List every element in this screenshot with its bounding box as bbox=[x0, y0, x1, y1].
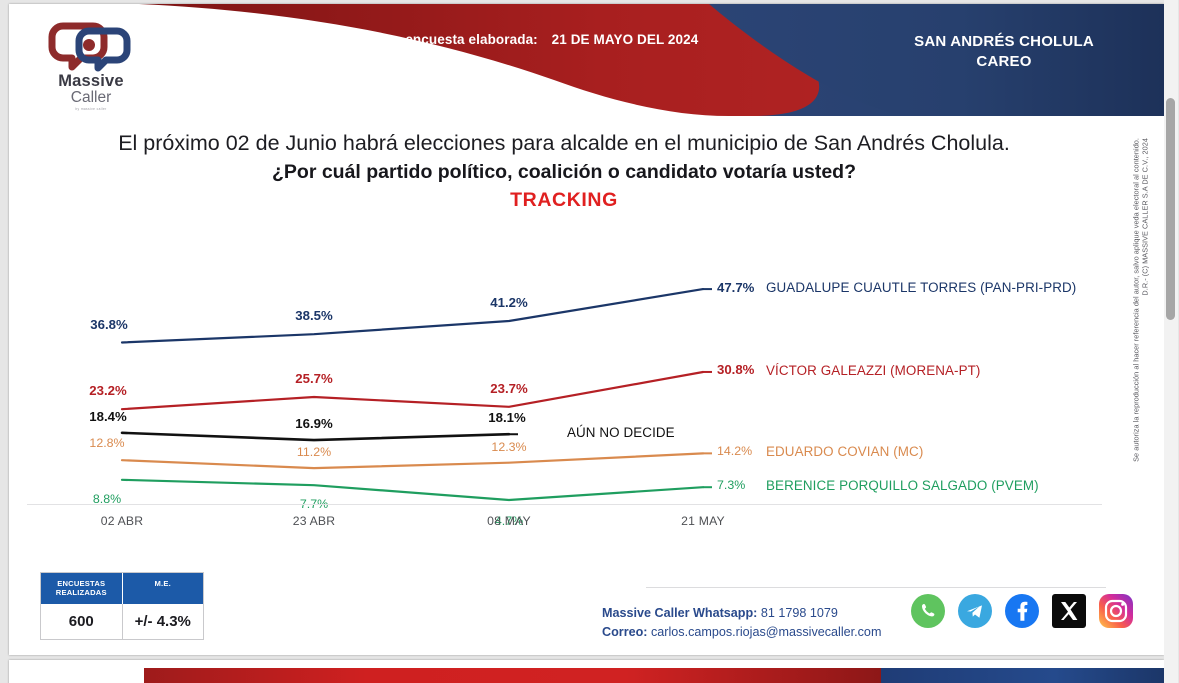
stats-table-header: ENCUESTAS REALIZADAS M.E. bbox=[41, 573, 203, 604]
slide: Última encuesta elaborada: 21 DE MAYO DE… bbox=[9, 4, 1164, 655]
question-line-1: El próximo 02 de Junio habrá elecciones … bbox=[9, 130, 1119, 157]
x-axis-tick-label: 23 ABR bbox=[293, 514, 336, 528]
banner-title-line1: SAN ANDRÉS CHOLULA bbox=[854, 32, 1154, 52]
logo-bubbles-icon bbox=[43, 20, 139, 72]
data-point-label: 16.9% bbox=[295, 416, 332, 431]
question-line-2: ¿Por cuál partido político, coalición o … bbox=[9, 161, 1119, 184]
survey-date: Última encuesta elaborada: 21 DE MAYO DE… bbox=[309, 32, 749, 47]
whatsapp-icon[interactable] bbox=[909, 592, 947, 630]
logo-text-caller: Caller bbox=[43, 90, 139, 106]
social-links bbox=[909, 592, 1135, 630]
tracking-line-chart: 36.8%38.5%41.2%47.7%23.2%25.7%23.7%30.8%… bbox=[9, 232, 1119, 532]
data-point-label: 11.2% bbox=[297, 445, 331, 459]
data-point-label: 7.3% bbox=[717, 478, 745, 492]
series-line bbox=[122, 289, 703, 342]
brand-logo: Massive Caller by massive caller bbox=[43, 20, 139, 104]
next-slide-blue-band bbox=[881, 668, 1164, 683]
data-point-label: 30.8% bbox=[717, 362, 754, 377]
x-axis-tick-label: 21 MAY bbox=[681, 514, 725, 528]
data-point-label: 12.3% bbox=[491, 440, 526, 454]
copyright-line-1: D.R.- (C) MASSIVE CALLER S.A DE C.V., 20… bbox=[1141, 138, 1150, 296]
contact-whatsapp: Massive Caller Whatsapp: 81 1798 1079 bbox=[602, 604, 881, 623]
data-point-label: 18.1% bbox=[488, 410, 525, 425]
x-twitter-icon[interactable] bbox=[1050, 592, 1088, 630]
copyright-line-2: Se autoriza la reproducción al hacer ref… bbox=[1132, 138, 1141, 462]
copyright-vertical: D.R.- (C) MASSIVE CALLER S.A DE C.V., 20… bbox=[1128, 138, 1156, 558]
contact-email-label: Correo: bbox=[602, 625, 647, 639]
series-line bbox=[122, 453, 703, 468]
contact-whatsapp-label: Massive Caller Whatsapp: bbox=[602, 606, 757, 620]
x-axis-tick-label: 02 ABR bbox=[101, 514, 144, 528]
series-line bbox=[122, 433, 509, 440]
data-point-label: 36.8% bbox=[90, 317, 127, 332]
contact-info: Massive Caller Whatsapp: 81 1798 1079 Co… bbox=[602, 604, 881, 642]
legend-item: EDUARDO COVIAN (MC) bbox=[766, 444, 923, 459]
data-point-label: 47.7% bbox=[717, 280, 754, 295]
data-point-label: 38.5% bbox=[295, 308, 332, 323]
tracking-label: TRACKING bbox=[9, 189, 1119, 212]
data-point-label: 41.2% bbox=[490, 295, 527, 310]
survey-date-label: Última encuesta elaborada: bbox=[360, 32, 538, 47]
facebook-icon[interactable] bbox=[1003, 592, 1041, 630]
instagram-icon[interactable] bbox=[1097, 592, 1135, 630]
x-axis-tick-label: 08 MAY bbox=[487, 514, 531, 528]
series-line bbox=[122, 372, 703, 409]
x-axis-line bbox=[27, 504, 1102, 505]
contact-email: Correo: carlos.campos.riojas@massivecall… bbox=[602, 623, 881, 642]
data-point-label: 23.7% bbox=[490, 381, 527, 396]
next-slide-preview[interactable] bbox=[9, 660, 1164, 683]
banner-title-line2: CAREO bbox=[854, 52, 1154, 72]
series-line bbox=[122, 480, 703, 500]
logo-tagline: by massive caller bbox=[43, 107, 139, 111]
screen: Última encuesta elaborada: 21 DE MAYO DE… bbox=[0, 0, 1179, 683]
stats-header-surveys: ENCUESTAS REALIZADAS bbox=[41, 573, 123, 604]
scrollbar-thumb[interactable] bbox=[1166, 98, 1175, 320]
stats-value-margin: +/- 4.3% bbox=[123, 604, 204, 639]
stats-table-row: 600 +/- 4.3% bbox=[41, 604, 203, 639]
banner-title: SAN ANDRÉS CHOLULA CAREO bbox=[854, 32, 1154, 73]
contact-email-value: carlos.campos.riojas@massivecaller.com bbox=[651, 625, 881, 639]
data-point-label: 18.4% bbox=[89, 409, 126, 424]
telegram-icon[interactable] bbox=[956, 592, 994, 630]
massive-caller-logo-icon bbox=[43, 20, 139, 72]
data-point-label: 14.2% bbox=[717, 444, 752, 458]
legend-item: AÚN NO DECIDE bbox=[567, 425, 675, 440]
stats-header-margin: M.E. bbox=[123, 573, 204, 604]
question-block: El próximo 02 de Junio habrá elecciones … bbox=[9, 130, 1119, 212]
data-point-label: 25.7% bbox=[295, 371, 332, 386]
logo-text-massive: Massive bbox=[43, 73, 139, 90]
scrollbar-track[interactable] bbox=[1164, 0, 1178, 683]
data-point-label: 23.2% bbox=[89, 383, 126, 398]
contact-whatsapp-value: 81 1798 1079 bbox=[761, 606, 838, 620]
header-banner: Última encuesta elaborada: 21 DE MAYO DE… bbox=[9, 4, 1164, 116]
survey-date-value: 21 DE MAYO DEL 2024 bbox=[552, 32, 699, 47]
legend-item: BERENICE PORQUILLO SALGADO (PVEM) bbox=[766, 478, 1039, 493]
data-point-label: 12.8% bbox=[89, 436, 124, 450]
stats-value-surveys: 600 bbox=[41, 604, 123, 639]
next-slide-red-band bbox=[144, 668, 884, 683]
legend-item: VÍCTOR GALEAZZI (MORENA-PT) bbox=[766, 363, 981, 378]
footer-divider bbox=[646, 587, 1106, 588]
legend-item: GUADALUPE CUAUTLE TORRES (PAN-PRI-PRD) bbox=[766, 280, 1076, 295]
stats-table: ENCUESTAS REALIZADAS M.E. 600 +/- 4.3% bbox=[40, 572, 204, 640]
